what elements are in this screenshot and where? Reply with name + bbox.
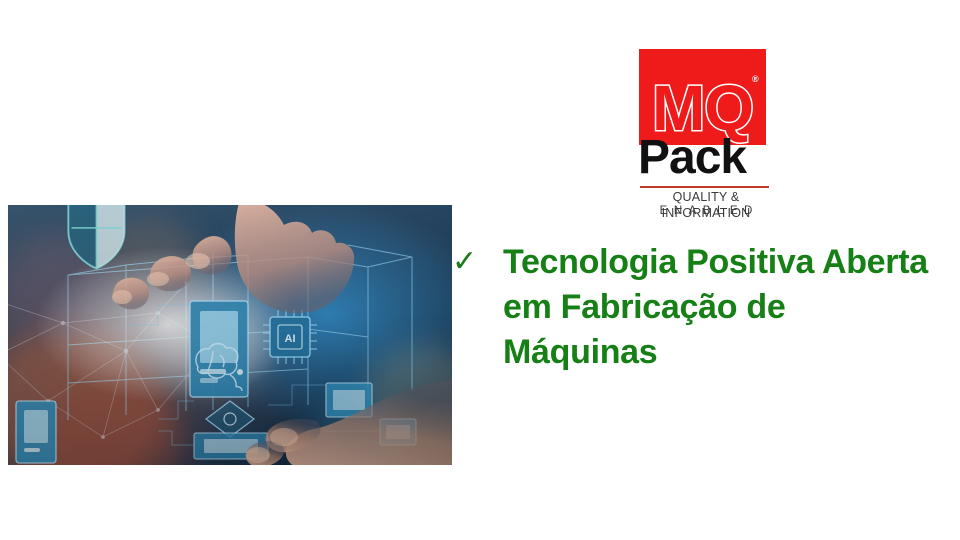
- hero-photo: AI: [8, 205, 452, 465]
- slide-canvas: AI: [0, 0, 960, 540]
- logo-tagline-line2: ENABLED: [640, 204, 772, 219]
- mq-pack-logo: MQ ® Pack QUALITY & INFORMATION ENABLED: [626, 45, 786, 220]
- bullet-heading: Tecnologia Positiva Aberta em Fabricação…: [503, 240, 943, 375]
- logo-wordmark: Pack: [638, 132, 746, 184]
- logo-divider: [640, 186, 769, 188]
- photo-vignette: [8, 205, 452, 465]
- checkmark-icon: ✓: [452, 247, 477, 277]
- registered-trademark-icon: ®: [752, 75, 759, 84]
